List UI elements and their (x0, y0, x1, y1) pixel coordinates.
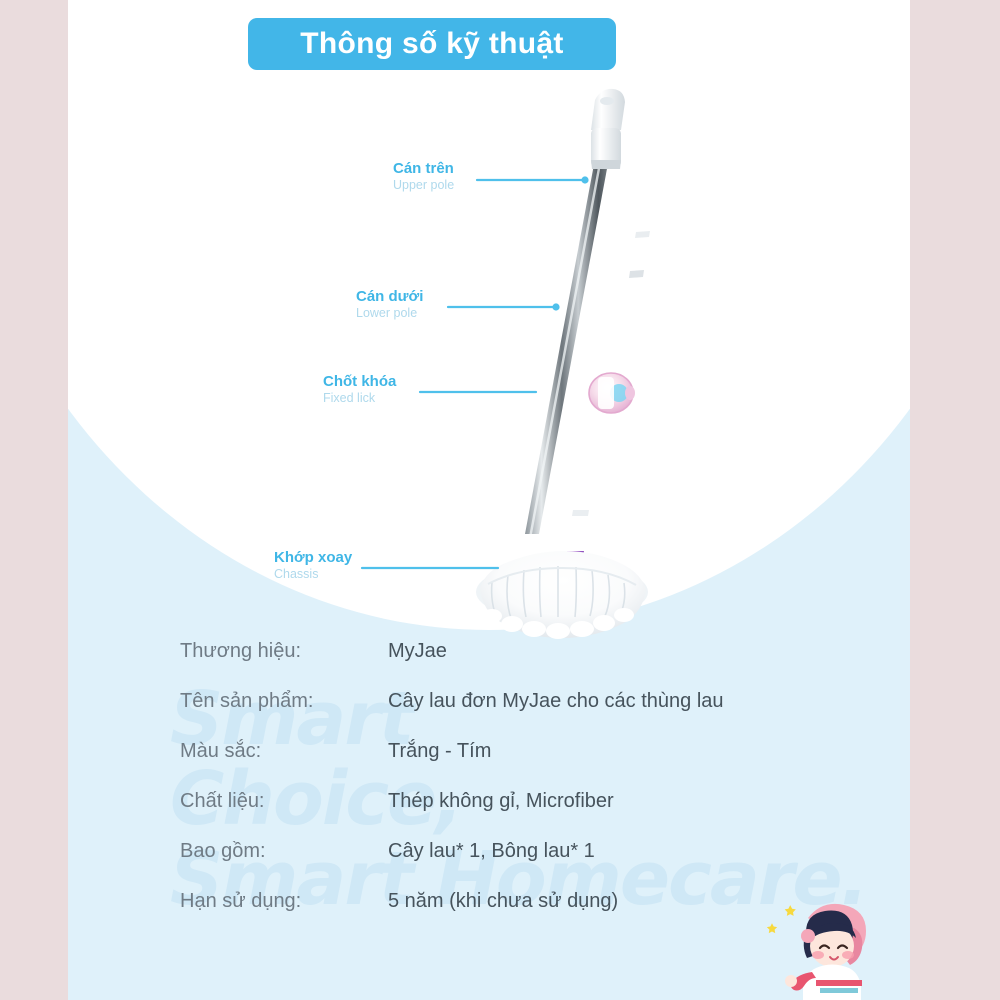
spec-value-color: Trắng - Tím (388, 740, 491, 763)
spec-label-material: Chất liệu: (180, 790, 388, 813)
callout-upper-pole-en: Upper pole (393, 178, 454, 193)
mop-illustration (68, 0, 910, 660)
table-row: Tên sản phẩm: Cây lau đơn MyJae cho các … (180, 690, 880, 740)
callout-chassis-vn: Khớp xoay (274, 549, 352, 566)
mascot-illustration (758, 884, 910, 1000)
callout-lock: Chốt khóa Fixed lick (323, 373, 396, 406)
spec-label-brand: Thương hiệu: (180, 640, 388, 663)
callout-upper-pole: Cán trên Upper pole (393, 160, 454, 193)
callout-lock-en: Fixed lick (323, 391, 396, 406)
spec-label-includes: Bao gồm: (180, 840, 388, 863)
spec-value-material: Thép không gỉ, Microfiber (388, 790, 614, 813)
callout-upper-pole-vn: Cán trên (393, 160, 454, 177)
page-title: Thông số kỹ thuật (300, 29, 563, 59)
callout-chassis-en: Chassis (274, 567, 352, 582)
page-title-banner: Thông số kỹ thuật (248, 18, 616, 70)
spec-label-expiry: Hạn sử dụng: (180, 890, 388, 913)
star-icon (767, 905, 796, 933)
spec-value-includes: Cây lau* 1, Bông lau* 1 (388, 840, 595, 863)
table-row: Thương hiệu: MyJae (180, 640, 880, 690)
spec-value-expiry: 5 năm (khi chưa sử dụng) (388, 890, 618, 913)
table-row: Chất liệu: Thép không gỉ, Microfiber (180, 790, 880, 840)
spec-value-product-name: Cây lau đơn MyJae cho các thùng lau (388, 690, 724, 713)
callout-lock-vn: Chốt khóa (323, 373, 396, 390)
product-spec-page: Cán trên Upper pole Cán dưới Lower pole … (0, 0, 1000, 1000)
callout-lower-pole: Cán dưới Lower pole (356, 288, 423, 321)
spec-value-brand: MyJae (388, 640, 447, 663)
table-row: Màu sắc: Trắng - Tím (180, 740, 880, 790)
spec-label-color: Màu sắc: (180, 740, 388, 763)
callout-chassis: Khớp xoay Chassis (274, 549, 352, 582)
table-row: Bao gồm: Cây lau* 1, Bông lau* 1 (180, 840, 880, 890)
callout-lower-pole-vn: Cán dưới (356, 288, 423, 305)
content-panel: Cán trên Upper pole Cán dưới Lower pole … (68, 0, 910, 1000)
spec-label-product-name: Tên sản phẩm: (180, 690, 388, 713)
callout-lower-pole-en: Lower pole (356, 306, 423, 321)
